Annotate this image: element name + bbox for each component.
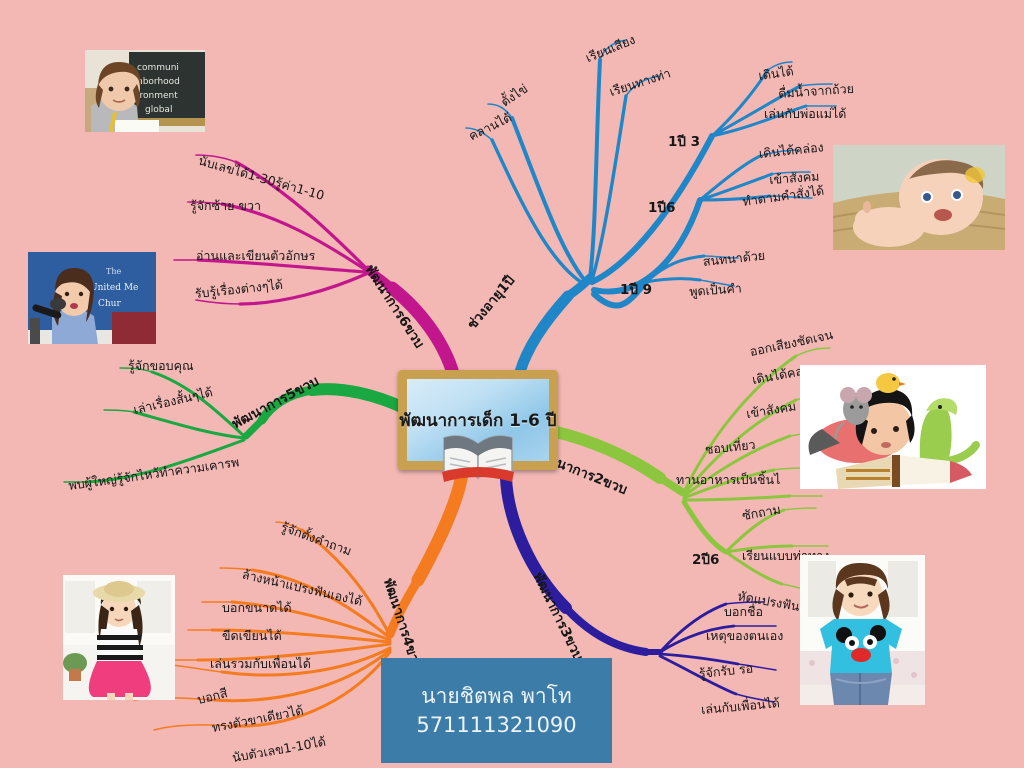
credit-id: 571111321090 [416,711,576,739]
photo-girl-chalkboard: communi hborhood ironment global [85,50,205,132]
svg-text:ironment: ironment [137,91,178,101]
node-label-tell-size: บอกขนาดได้ [222,598,292,618]
node-label-own-reasons: เหตุของตนเอง [706,626,783,646]
svg-text:hborhood: hborhood [137,77,180,87]
node-label-say-thanks: รู้จักขอบคุณ [128,356,194,376]
node-label-1y9m: 1ปี 9 [620,278,652,300]
photo-girl-pink-skirt [63,575,175,700]
node-label-play-with-parents: เล่นกับพ่อแม่ได้ [764,104,846,124]
svg-text:United Me: United Me [90,283,138,293]
node-label-left-right: รู้จักซ้าย ขวา [190,196,261,216]
mindmap-canvas: communi hborhood ironment global The Uni… [0,0,1024,768]
node-label-say-name: บอกชื่อ [724,602,763,622]
credit-name: นายชิตพล พาโท [421,682,572,710]
photo-baby-blanket [833,145,1005,250]
node-label-read-write-letters: อ่านและเขียนตัวอักษร [196,246,315,266]
node-label-1y3m: 1ปี 3 [668,130,700,152]
photo-girl-microphone: The United Me Chur [28,252,156,344]
node-label-play-with-friends: เล่นรวมกับเพื่อนได้ [210,654,311,674]
node-label-eat-pieces: ทานอาหารเป็นชิ้นไ [676,470,780,490]
svg-text:global: global [145,105,172,115]
svg-text:The: The [106,267,121,276]
photo-boy-blue-shirt [800,555,925,705]
credit-box: นายชิตพล พาโท 571111321090 [381,658,612,763]
node-label-1y6m: 1ปี6 [648,196,675,218]
svg-text:communi: communi [137,63,179,73]
svg-text:Chur: Chur [98,299,121,309]
node-label-speak-words: พูดเป็นคำ [689,278,743,302]
photo-child-reading [800,365,986,489]
node-label-2y6m: 2ปี6 [692,548,719,570]
open-book-icon [438,428,518,484]
node-label-can-scribble: ขีดเขียนได้ [222,626,282,646]
